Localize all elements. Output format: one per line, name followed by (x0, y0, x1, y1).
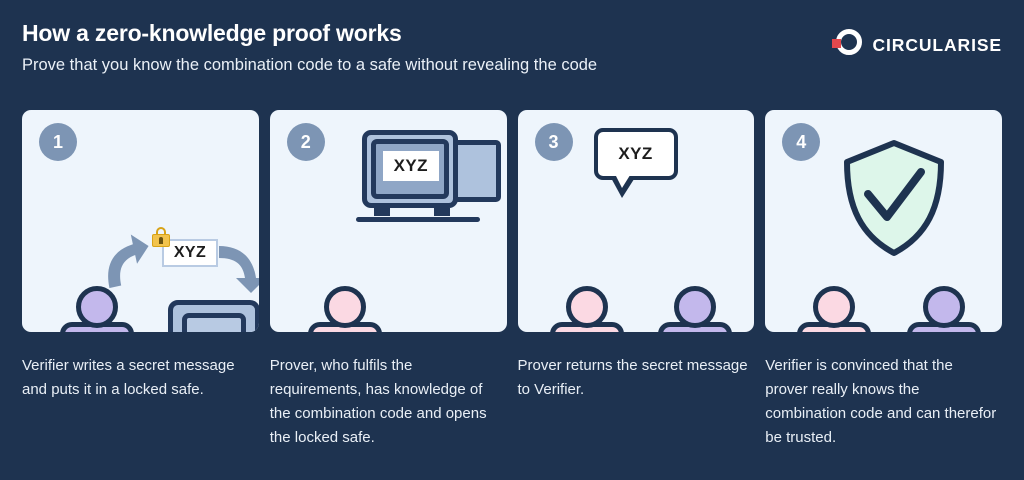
speech-bubble-box: XYZ (594, 128, 678, 180)
step-panel-2: 2 XYZ (270, 110, 507, 332)
step-illustration-4: Prover Verifier (765, 110, 1002, 332)
person-prover (550, 286, 624, 332)
step-caption-2: Prover, who fulfils the requirements, ha… (270, 354, 507, 450)
person-head-icon (813, 286, 855, 328)
person-head-icon (923, 286, 965, 328)
logo-square-icon (832, 39, 841, 48)
person-head-icon (76, 286, 118, 328)
captions-row: Verifier writes a secret message and put… (22, 354, 1002, 450)
step-caption-4: Verifier is convinced that the prover re… (765, 354, 1002, 450)
person-prover (308, 286, 382, 332)
step-caption-3: Prover returns the secret message to Ver… (518, 354, 755, 450)
brand-logo: CIRCULARISE (832, 28, 1003, 62)
logo-wordmark: CIRCULARISE (873, 35, 1003, 56)
infographic-root: How a zero-knowledge proof works Prove t… (0, 0, 1024, 480)
safe-body-icon (168, 300, 259, 332)
person-prover (797, 286, 871, 332)
padlock-icon (152, 227, 170, 247)
person-verifier (658, 286, 732, 332)
secret-note-2: XYZ (383, 151, 439, 181)
step-illustration-2: XYZ Prover (270, 110, 507, 332)
header: How a zero-knowledge proof works Prove t… (22, 18, 1002, 88)
step-panel-4: 4 Prover (765, 110, 1002, 332)
person-verifier (60, 286, 134, 332)
step-caption-1: Verifier writes a secret message and put… (22, 354, 259, 450)
person-head-icon (324, 286, 366, 328)
step-panel-3: 3 XYZ Prover (518, 110, 755, 332)
safe-door-icon (182, 313, 246, 332)
safe-leg-icon (374, 208, 390, 216)
person-verifier (907, 286, 981, 332)
arrow-up-right-icon (96, 230, 154, 288)
safe-closed-icon (168, 300, 259, 332)
steps-row: 1 XYZ (22, 110, 1002, 332)
speech-bubble: XYZ (594, 128, 678, 180)
step-illustration-3: XYZ Prover (518, 110, 755, 332)
safe-floor-icon (356, 217, 480, 222)
secret-note-1: XYZ (162, 239, 218, 267)
person-head-icon (674, 286, 716, 328)
safe-legs-icon (364, 208, 460, 222)
step-illustration-1: XYZ (22, 110, 259, 332)
step-panel-1: 1 XYZ (22, 110, 259, 332)
padlock-keyhole-icon (159, 237, 163, 244)
arrow-down-right-icon (215, 240, 259, 298)
shield-check-icon (840, 138, 948, 258)
safe-leg-icon (434, 208, 450, 216)
speech-bubble-tail-fill-icon (614, 172, 632, 188)
circularise-mark-icon (832, 28, 866, 62)
person-head-icon (566, 286, 608, 328)
